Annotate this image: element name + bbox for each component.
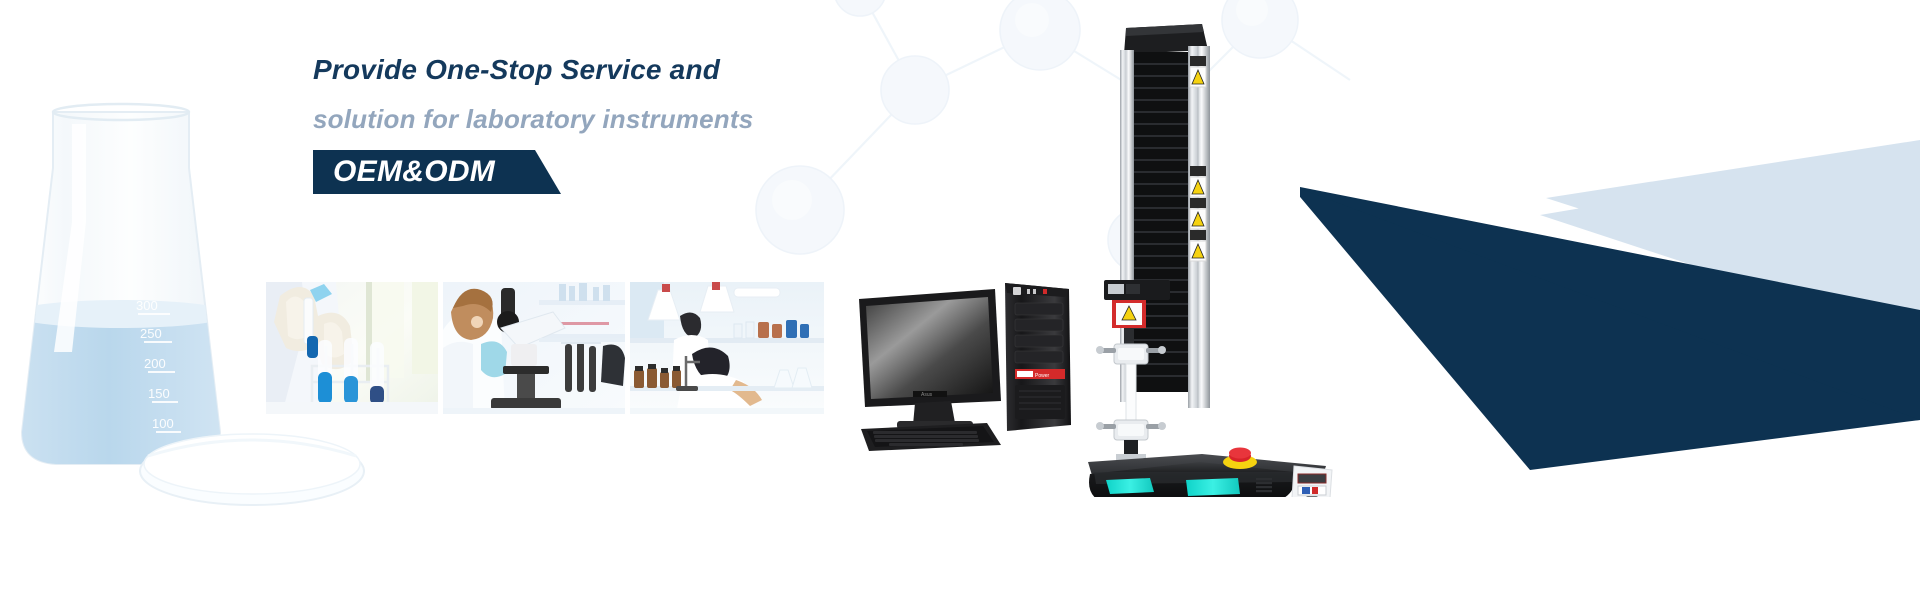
warning-label: [1190, 230, 1206, 261]
monitor: Asus: [859, 289, 1001, 429]
emergency-stop-button: [1223, 448, 1257, 470]
tower: Power: [1005, 283, 1071, 431]
universal-testing-machine: [1080, 22, 1340, 497]
light-blue-triangle: [1540, 140, 1920, 340]
monitor-brand: Asus: [921, 392, 933, 398]
oem-odm-tag-label: OEM&ODM: [333, 150, 495, 194]
desktop-computer: Asus Power: [855, 283, 1075, 453]
photo-pipetting: [266, 282, 438, 414]
warning-label: [1190, 166, 1206, 197]
photo-lab-bench: [630, 282, 824, 414]
svg-text:250: 250: [140, 326, 162, 341]
svg-text:Power: Power: [1035, 373, 1050, 379]
oem-odm-tag: OEM&ODM: [313, 150, 561, 194]
photo-microscope: [443, 282, 625, 414]
svg-text:100: 100: [152, 416, 174, 431]
lower-grip: [1096, 420, 1166, 440]
control-panel: [1292, 466, 1332, 497]
keyboard: [861, 423, 1001, 451]
petri-dish: [140, 434, 364, 505]
equipment-group: Asus Power: [840, 0, 1480, 597]
svg-text:300: 300: [136, 298, 158, 313]
hero-banner: 300 250 200 150 100 Provide One-Stop Ser: [0, 0, 1920, 597]
warning-label: [1190, 198, 1206, 229]
svg-text:150: 150: [148, 386, 170, 401]
warning-label: [1190, 56, 1206, 87]
light-blue-triangle-2: [1546, 140, 1920, 318]
crosshead: [1104, 280, 1170, 300]
svg-text:200: 200: [144, 356, 166, 371]
photo-strip: [266, 282, 824, 414]
